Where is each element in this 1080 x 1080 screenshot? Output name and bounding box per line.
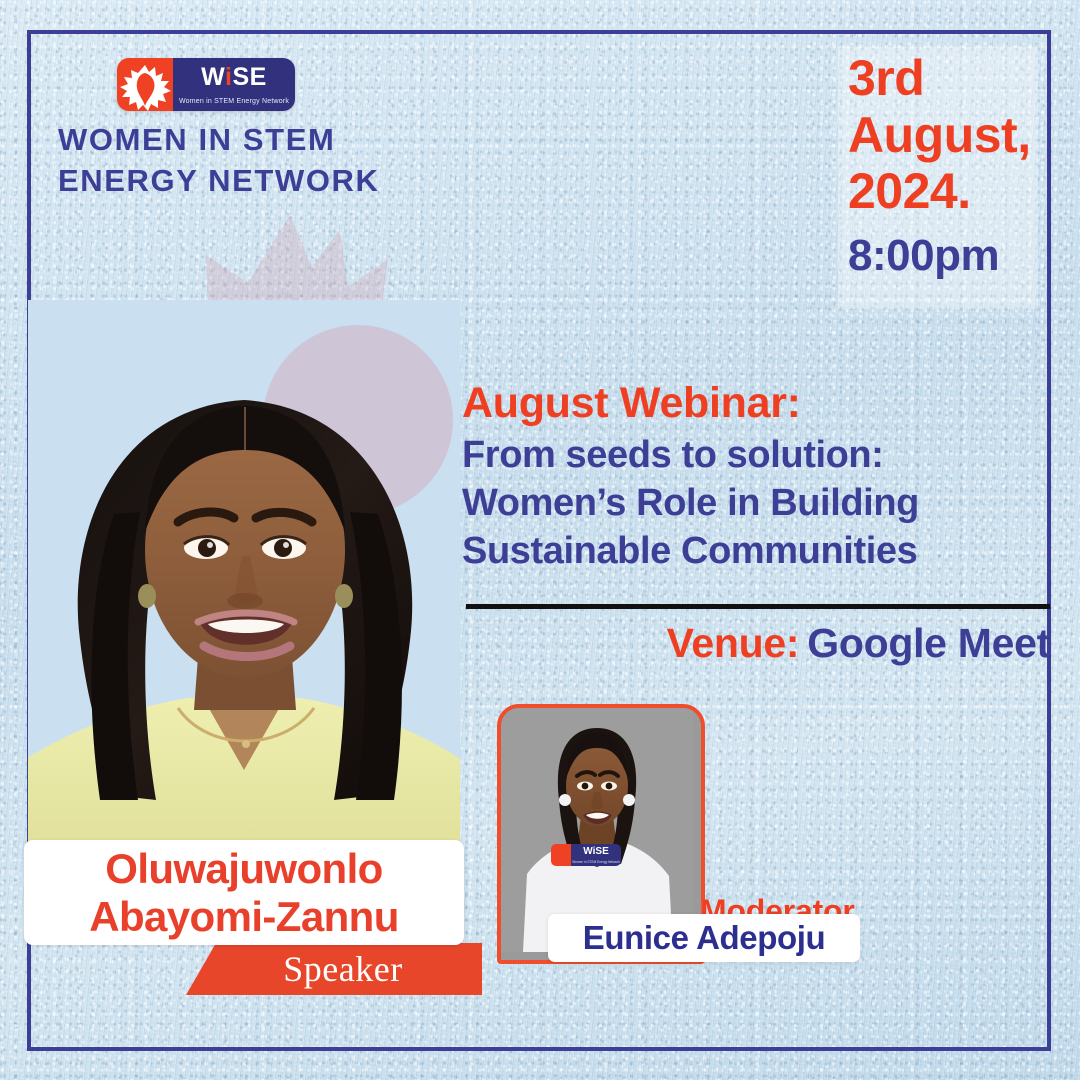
- shirt-logo-wordmark: WiSE: [571, 847, 621, 857]
- title-divider: [466, 604, 1050, 609]
- speaker-role-label: Speaker: [265, 948, 402, 990]
- webinar-flyer: WiSE Women in STEM Energy Network WOMEN …: [0, 0, 1080, 1080]
- logo-gear-woman-icon: [117, 58, 173, 111]
- webinar-title: From seeds to solution: Women’s Role in …: [462, 431, 1050, 576]
- org-name-line-1: WOMEN IN STEM: [58, 120, 438, 161]
- webinar-title-line-1: From seeds to solution:: [462, 431, 1050, 479]
- logo-w: W: [201, 63, 225, 91]
- date-line-1: 3rd: [848, 50, 1038, 107]
- moderator-name: Eunice Adepoju: [583, 919, 826, 957]
- event-time: 8:00pm: [848, 228, 1038, 283]
- date-line-2: August,: [848, 107, 1038, 164]
- venue-label: Venue:: [667, 620, 800, 666]
- shirt-logo-gear-icon: [551, 844, 571, 866]
- webinar-title-line-3: Sustainable Communities: [462, 527, 1050, 575]
- logo-tagline: Women in STEM Energy Network: [173, 98, 295, 105]
- webinar-title-block: August Webinar: From seeds to solution: …: [462, 378, 1050, 575]
- webinar-kicker: August Webinar:: [462, 378, 1050, 429]
- speaker-name-line-1: Oluwajuwonlo: [105, 845, 382, 892]
- moderator-shirt-logo: WiSE Women in STEM Energy Network: [551, 844, 621, 866]
- speaker-role-banner: Speaker: [186, 943, 482, 995]
- logo-se: SE: [232, 63, 266, 91]
- date-block: 3rd August, 2024. 8:00pm: [848, 50, 1038, 283]
- webinar-title-line-2: Women’s Role in Building: [462, 479, 1050, 527]
- speaker-name-banner: Oluwajuwonlo Abayomi-Zannu: [24, 840, 464, 945]
- org-name-line-2: ENERGY NETWORK: [58, 161, 438, 202]
- venue-value: Google Meet: [807, 620, 1050, 666]
- shirt-logo-tagline: Women in STEM Energy Network: [571, 860, 621, 864]
- date-line-3: 2024.: [848, 163, 1038, 220]
- venue-row: Venue:Google Meet: [462, 620, 1050, 667]
- shirt-logo-wordmark-area: WiSE Women in STEM Energy Network: [571, 844, 621, 866]
- moderator-name-banner: Eunice Adepoju: [548, 914, 860, 962]
- organisation-name: WOMEN IN STEM ENERGY NETWORK: [58, 120, 438, 202]
- speaker-name-line-2: Abayomi-Zannu: [89, 893, 399, 940]
- logo-wordmark-area: WiSE Women in STEM Energy Network: [173, 58, 295, 111]
- logo-wordmark: WiSE: [173, 65, 295, 90]
- wise-logo: WiSE Women in STEM Energy Network: [117, 58, 295, 111]
- speaker-photo: [28, 300, 460, 860]
